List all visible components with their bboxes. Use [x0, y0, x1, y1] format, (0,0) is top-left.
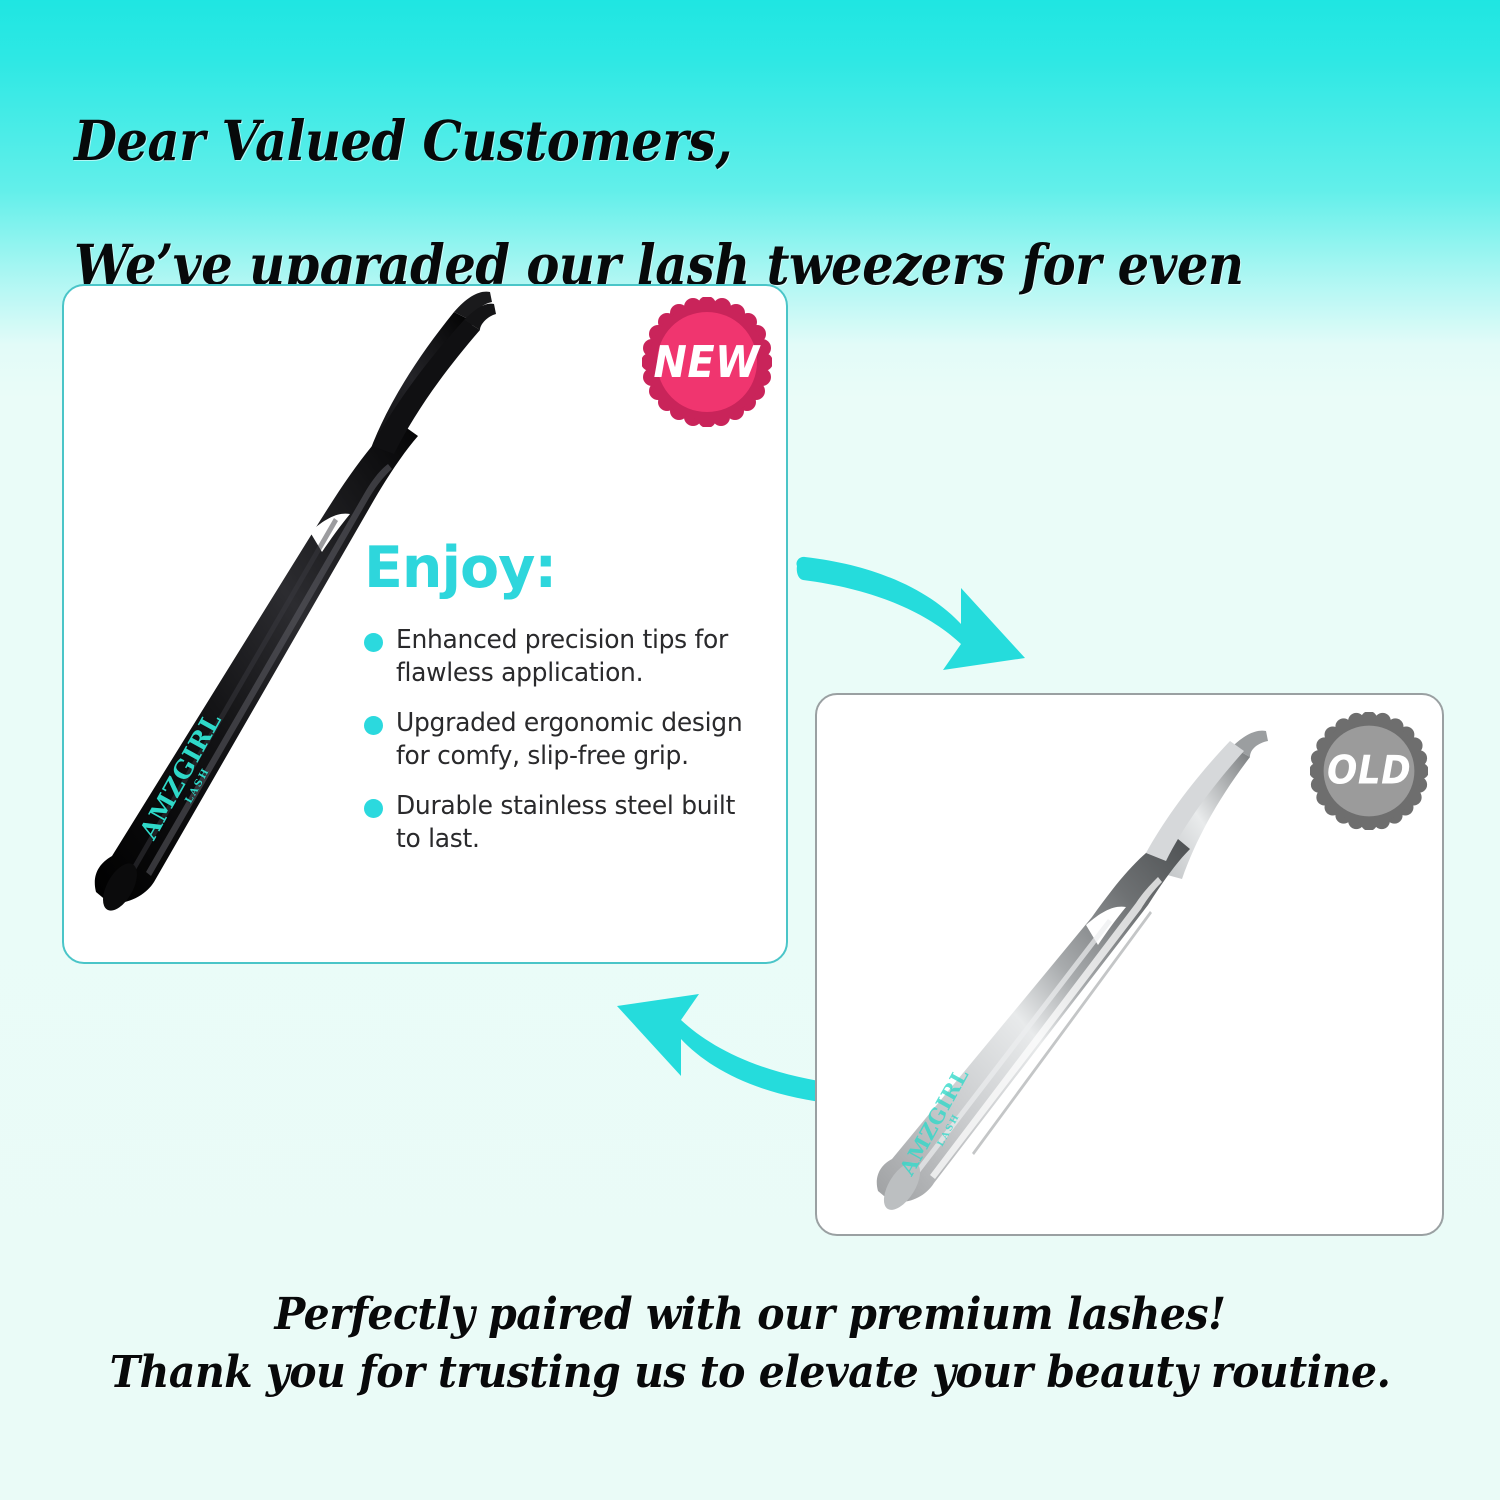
list-item: Enhanced precision tips for flawless app… — [364, 624, 774, 690]
old-badge: OLD — [1310, 712, 1428, 830]
benefit-text: Durable stainless steel built to last. — [396, 790, 759, 856]
footer-message: Perfectly paired with our premium lashes… — [0, 1286, 1500, 1402]
curved-arrow-down-right-icon — [793, 546, 1028, 676]
new-badge: NEW — [642, 297, 772, 427]
list-item: Durable stainless steel built to last. — [364, 790, 774, 856]
enjoy-heading: Enjoy: — [364, 538, 556, 598]
footer-line-2: Thank you for trusting us to elevate you… — [53, 1344, 1448, 1402]
benefit-text: Upgraded ergonomic design for comfy, sli… — [396, 707, 759, 773]
old-badge-label: OLD — [1327, 748, 1411, 794]
bullet-dot-icon — [364, 633, 383, 652]
new-badge-label: NEW — [654, 337, 760, 388]
benefit-text: Enhanced precision tips for flawless app… — [396, 624, 759, 690]
benefits-list: Enhanced precision tips for flawless app… — [364, 624, 774, 873]
list-item: Upgraded ergonomic design for comfy, sli… — [364, 707, 774, 773]
bullet-dot-icon — [364, 799, 383, 818]
bullet-dot-icon — [364, 716, 383, 735]
promo-banner: Dear Valued Customers, We’ve upgraded ou… — [0, 0, 1500, 1500]
curved-arrow-up-left-icon — [614, 984, 849, 1119]
footer-line-1: Perfectly paired with our premium lashes… — [53, 1286, 1448, 1344]
headline-line-1: Dear Valued Customers, — [74, 110, 1316, 172]
